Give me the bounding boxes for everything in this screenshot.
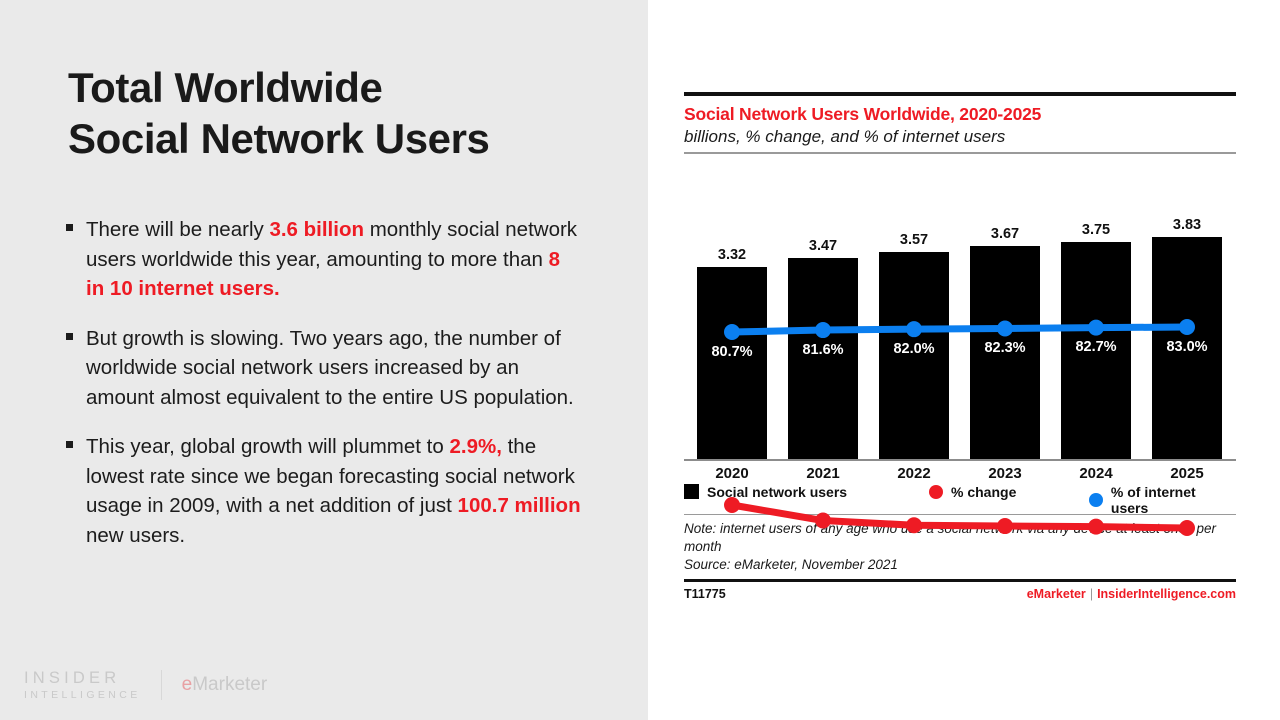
chart-footer-brand: eMarketer|InsiderIntelligence.com <box>1027 587 1236 601</box>
left-content-panel: Total Worldwide Social Network Users The… <box>0 0 648 720</box>
x-tick-label-2020: 2020 <box>697 465 767 482</box>
legend-dot-blue-icon <box>1089 493 1103 507</box>
bullet-marker-icon <box>66 333 73 340</box>
pct-internet-users-point <box>724 324 740 340</box>
x-tick-label-2022: 2022 <box>879 465 949 482</box>
pct-internet-users-value-label: 82.3% <box>970 340 1040 356</box>
chart-card: Social Network Users Worldwide, 2020-202… <box>684 92 1236 601</box>
pct-internet-users-point <box>815 322 831 338</box>
pct-internet-users-value-label: 80.7% <box>697 344 767 360</box>
pct-internet-users-point <box>1088 319 1104 335</box>
pct-internet-users-value-label: 83.0% <box>1152 339 1222 355</box>
bullet-text: But growth is slowing. Two years ago, th… <box>86 327 574 409</box>
chart-subtitle-rule <box>684 152 1236 154</box>
legend-label: % change <box>951 484 1016 500</box>
legend-label: % of internet users <box>1111 484 1236 516</box>
pct-internet-users-value-label: 81.6% <box>788 342 858 358</box>
emarketer-logo-rest: Marketer <box>192 674 267 695</box>
x-tick-label-2021: 2021 <box>788 465 858 482</box>
insider-logo-line-1: INSIDER <box>24 668 141 689</box>
legend-item-social-network-users[interactable]: Social network users <box>684 484 847 500</box>
bullet-marker-icon <box>66 441 73 448</box>
page-title: Total Worldwide Social Network Users <box>68 62 608 164</box>
pct-change-point <box>906 517 922 533</box>
pct-change-point <box>997 518 1013 534</box>
x-axis-line <box>684 459 1236 461</box>
bullet-marker-icon <box>66 224 73 231</box>
footer-separator: | <box>1090 587 1093 601</box>
pct-change-point <box>1179 520 1195 536</box>
line-series-layer <box>684 160 1236 482</box>
list-item: There will be nearly 3.6 billion monthly… <box>62 215 582 304</box>
legend-dot-red-icon <box>929 485 943 499</box>
pct-internet-users-value-label: 82.0% <box>879 341 949 357</box>
page-title-line-1: Total Worldwide <box>68 62 608 113</box>
brand-divider <box>161 670 162 700</box>
insider-intelligence-logo: INSIDER INTELLIGENCE <box>24 668 141 702</box>
chart-subtitle: billions, % change, and % of internet us… <box>684 127 1236 147</box>
bullet-list: There will be nearly 3.6 billion monthly… <box>62 215 582 570</box>
x-tick-label-2025: 2025 <box>1152 465 1222 482</box>
page-title-line-2: Social Network Users <box>68 113 608 164</box>
chart-legend: Social network users % change % of inter… <box>684 484 1236 508</box>
list-item: This year, global growth will plummet to… <box>62 432 582 550</box>
chart-bottom-rule <box>684 579 1236 582</box>
bullet-text: There will be nearly 3.6 billion monthly… <box>86 218 577 300</box>
list-item: But growth is slowing. Two years ago, th… <box>62 324 582 413</box>
chart-source: Source: eMarketer, November 2021 <box>684 556 1236 574</box>
brand-logo: INSIDER INTELLIGENCE eMarketer <box>24 668 267 702</box>
bar-value-label: 3.75 <box>1061 222 1131 238</box>
pct-internet-users-point <box>1179 319 1195 335</box>
bar-value-label: 3.32 <box>697 247 767 263</box>
footer-emarketer: eMarketer <box>1027 587 1086 601</box>
pct-change-point <box>815 512 831 528</box>
pct-internet-users-value-label: 82.7% <box>1061 339 1131 355</box>
pct-internet-users-line <box>732 327 1187 332</box>
bar-value-label: 3.83 <box>1152 217 1222 233</box>
legend-item-pct-internet-users[interactable]: % of internet users <box>1089 484 1236 516</box>
legend-item-pct-change[interactable]: % change <box>929 484 1016 500</box>
pct-internet-users-point <box>906 321 922 337</box>
chart-top-rule <box>684 92 1236 96</box>
bar-value-label: 3.47 <box>788 238 858 254</box>
footer-site[interactable]: InsiderIntelligence.com <box>1097 587 1236 601</box>
chart-title: Social Network Users Worldwide, 2020-202… <box>684 104 1236 125</box>
x-tick-label-2023: 2023 <box>970 465 1040 482</box>
legend-square-icon <box>684 484 699 499</box>
chart-footer: T11775 eMarketer|InsiderIntelligence.com <box>684 587 1236 601</box>
bar-value-label: 3.67 <box>970 226 1040 242</box>
emarketer-logo: eMarketer <box>182 674 268 696</box>
emarketer-logo-e: e <box>182 674 193 695</box>
insider-logo-line-2: INTELLIGENCE <box>24 689 141 702</box>
chart-footer-id: T11775 <box>684 587 726 601</box>
slide-root: Total Worldwide Social Network Users The… <box>0 0 1280 720</box>
legend-label: Social network users <box>707 484 847 500</box>
x-tick-label-2024: 2024 <box>1061 465 1131 482</box>
chart-plot-area: 3.323.473.573.673.753.8380.7%81.6%82.0%8… <box>684 160 1236 482</box>
bar-value-label: 3.57 <box>879 232 949 248</box>
bullet-text: This year, global growth will plummet to… <box>86 435 581 547</box>
pct-change-point <box>1088 518 1104 534</box>
pct-internet-users-point <box>997 320 1013 336</box>
